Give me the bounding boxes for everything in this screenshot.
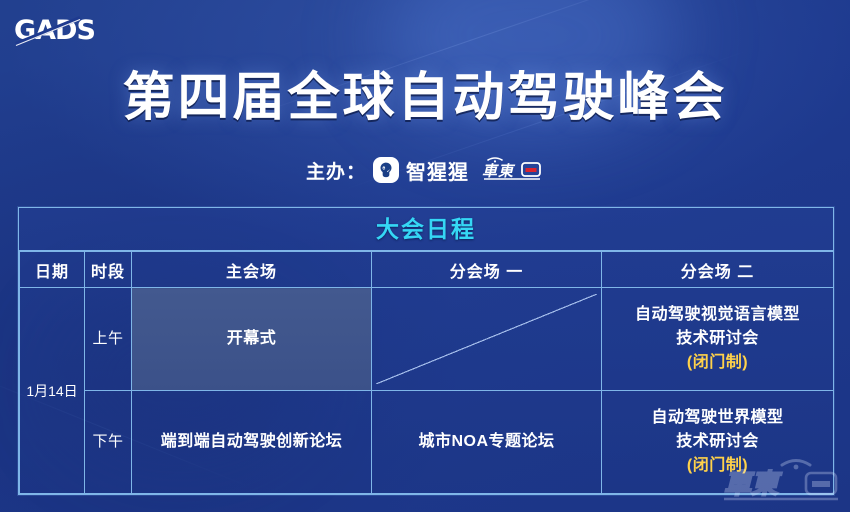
cell-slot-afternoon: 下午 [85,391,132,494]
cell-sub-hall-1-morning-empty [372,288,602,391]
cell-slot-morning: 上午 [85,288,132,391]
column-header-sub-hall-1: 分会场 一 [372,252,602,288]
schedule-title: 大会日程 [19,208,833,251]
column-header-main-hall: 主会场 [132,252,372,288]
table-row: 下午 端到端自动驾驶创新论坛 城市NOA专题论坛 自动驾驶世界模型 技术研讨会 … [20,391,834,494]
table-row: 1月14日 上午 开幕式 自动驾驶视觉语言模型 技术研讨会 (闭门制) [20,288,834,391]
schedule-table: 日期 时段 主会场 分会场 一 分会场 二 1月14日 上午 开幕式 自动驾驶视 [19,251,834,494]
session-title-line-1: 自动驾驶世界模型 [603,406,832,430]
cell-sub-hall-2-morning: 自动驾驶视觉语言模型 技术研讨会 (闭门制) [602,288,834,391]
session-note-closed-door: (闭门制) [603,351,832,375]
ape-logo-icon [373,157,399,183]
column-header-slot: 时段 [85,252,132,288]
poster-canvas: GADS 第四届全球自动驾驶峰会 主办： 智猩猩 車東 [0,0,850,512]
session-title-line-1: 自动驾驶视觉语言模型 [603,303,832,327]
cell-main-hall-afternoon: 端到端自动驾驶创新论坛 [132,391,372,494]
svg-text:車東: 車東 [482,162,516,180]
session-title-line-2: 技术研讨会 [603,327,832,351]
session-note-closed-door: (闭门制) [603,454,832,478]
organizer-brand-primary: 智猩猩 [406,156,469,185]
diagonal-strike-icon [376,294,597,384]
organizer-row: 主办： 智猩猩 車東 [0,154,850,186]
schedule-table-container: 大会日程 日期 时段 主会场 分会场 一 分会场 二 1月14日 上午 开幕式 [18,207,834,495]
organizer-label: 主办： [306,157,366,184]
cell-main-hall-morning: 开幕式 [132,288,372,391]
organizer-brand-secondary: 車東 [482,154,544,186]
page-title: 第四届全球自动驾驶峰会 [0,68,850,128]
cell-sub-hall-2-afternoon: 自动驾驶世界模型 技术研讨会 (闭门制) [602,391,834,494]
gads-logo: GADS [14,14,106,48]
cell-sub-hall-1-afternoon: 城市NOA专题论坛 [372,391,602,494]
cell-date: 1月14日 [20,288,85,494]
table-header-row: 日期 时段 主会场 分会场 一 分会场 二 [20,252,834,288]
session-title-line-2: 技术研讨会 [603,430,832,454]
column-header-sub-hall-2: 分会场 二 [602,252,834,288]
column-header-date: 日期 [20,252,85,288]
